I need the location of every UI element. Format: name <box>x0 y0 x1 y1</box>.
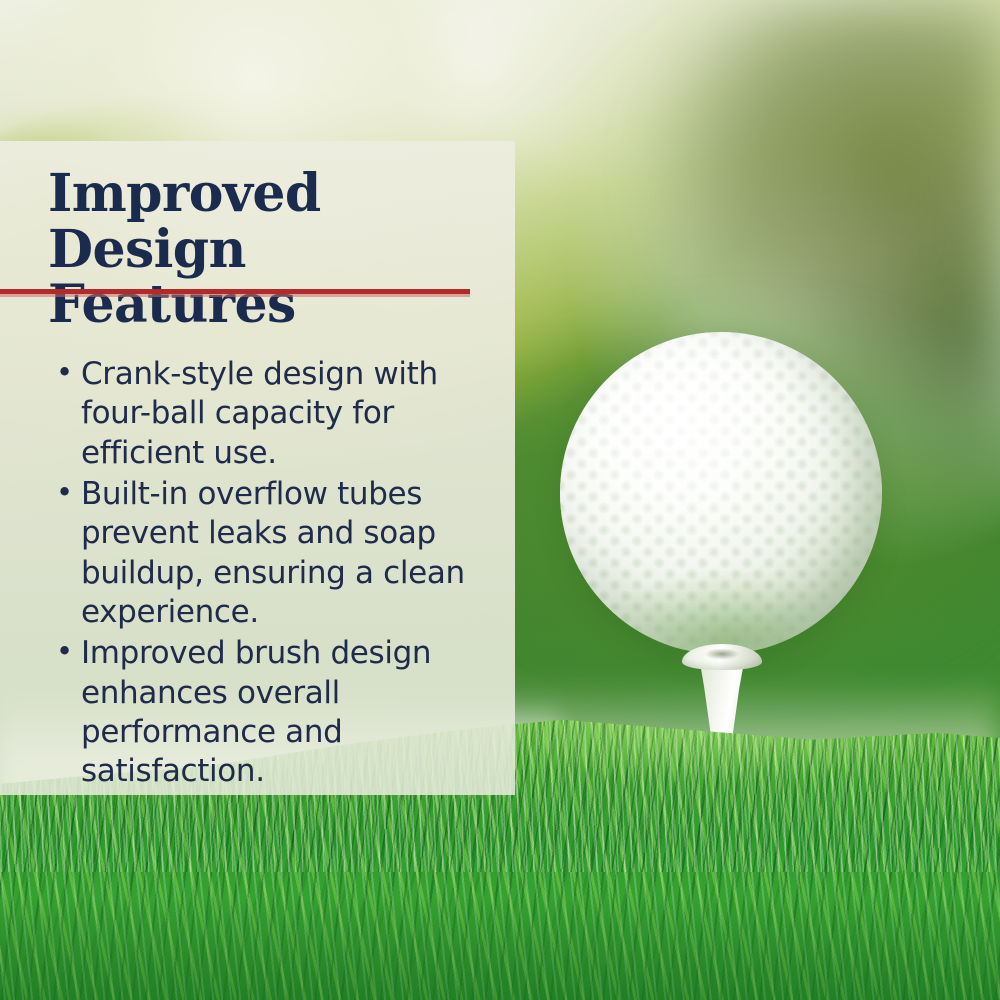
golf-ball <box>560 332 882 654</box>
feature-list: Crank-style design with four-ball capaci… <box>48 355 471 792</box>
list-item: Built-in overflow tubes prevent leaks an… <box>56 475 471 632</box>
slide-canvas: Improved Design Features Crank-style des… <box>0 0 1000 1000</box>
golf-tee-shadow <box>700 646 744 662</box>
list-item: Crank-style design with four-ball capaci… <box>56 355 471 473</box>
grass-foreground-blur <box>0 878 1000 1000</box>
text-panel: Improved Design Features Crank-style des… <box>0 141 515 795</box>
list-item: Improved brush design enhances overall p… <box>56 634 471 791</box>
page-title: Improved Design Features <box>48 166 471 333</box>
golf-ball-green-reflection <box>560 332 882 654</box>
title-divider <box>0 289 470 294</box>
